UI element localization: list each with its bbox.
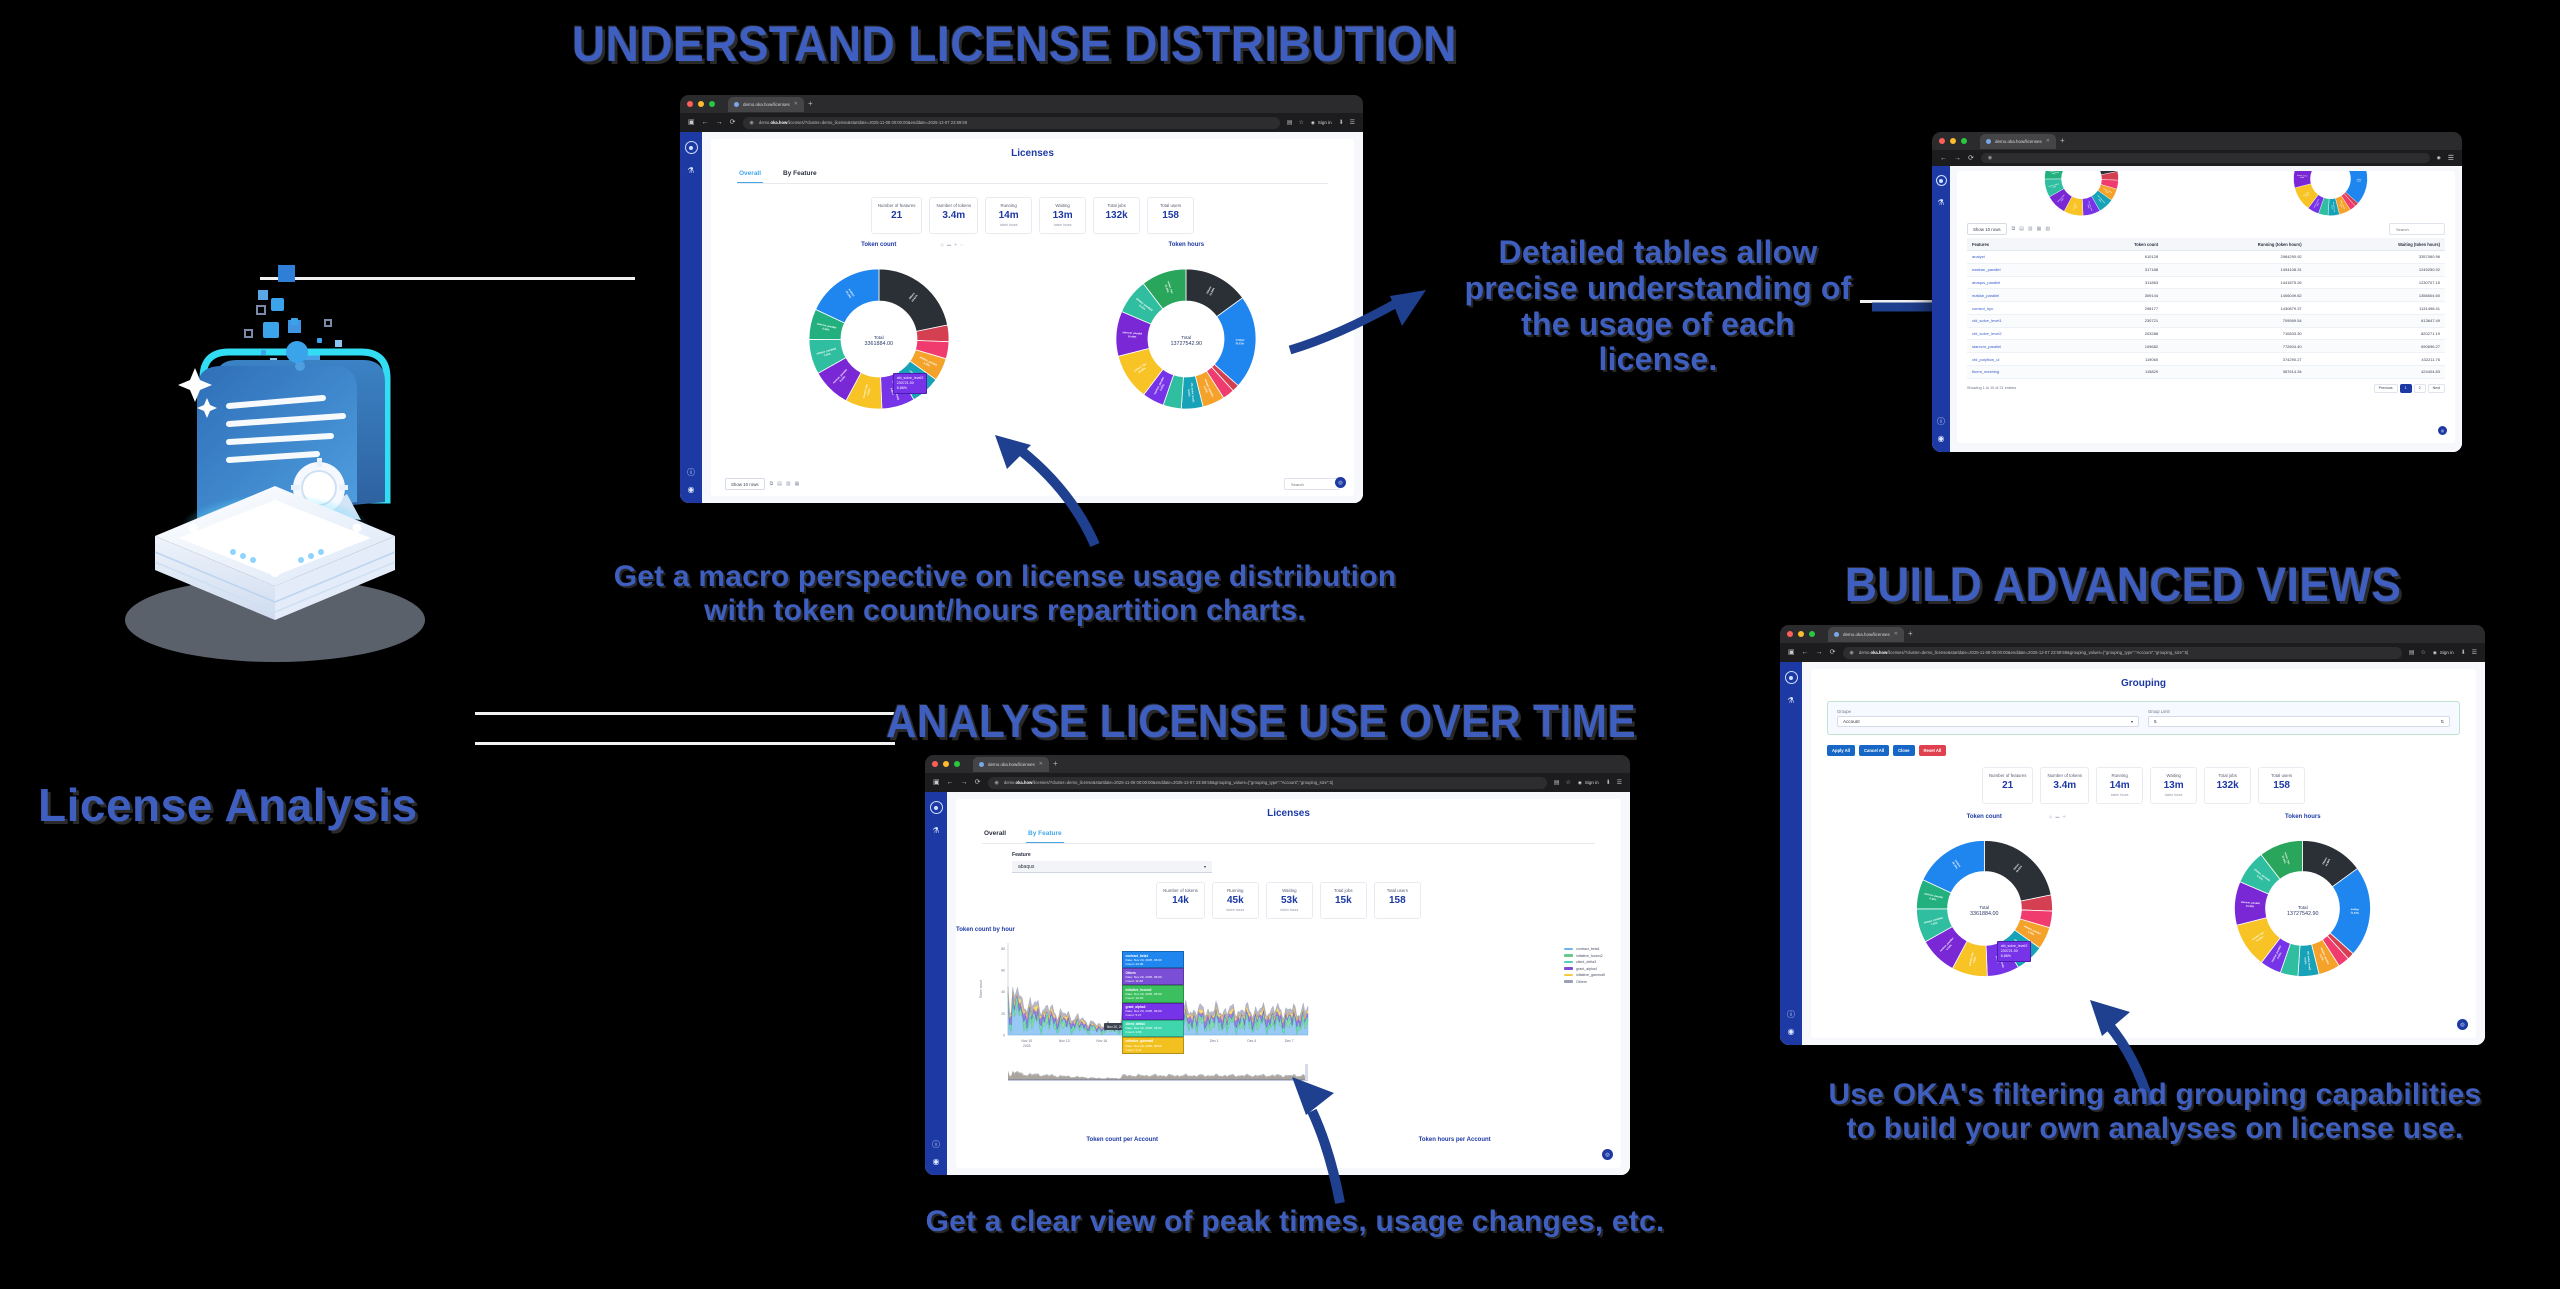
kpi-value: 45k [1219, 895, 1252, 906]
cell-waiting: 432211.76 [2307, 353, 2445, 366]
kpi-sub: token hours [1219, 908, 1252, 913]
sign-in-label: Sign in [1318, 120, 1332, 125]
cell-running: 1494108.31 [2163, 263, 2307, 276]
info-icon[interactable]: ⓘ [932, 1141, 940, 1149]
maximize-window-icon[interactable] [1809, 631, 1815, 637]
account-icon[interactable]: ◉ [688, 486, 695, 494]
info-icon[interactable]: ⓘ [1787, 1011, 1795, 1019]
browser-tab[interactable]: demo.oka.how/licenses ✕ [728, 97, 804, 112]
toolbar-left: Show 10 rows ⧉ ▤ ▥ ▦ [725, 478, 799, 490]
close-tab-icon[interactable]: ✕ [2046, 138, 2050, 144]
cancel-all-button[interactable]: Cancel All [1859, 745, 1889, 756]
donut-charts-row: Token count ◎ ▬ ✛ ⌂ Others19.61%abaqus_p… [711, 238, 1354, 431]
timeseries-svg[interactable]: 020406080Token countNov 102025Nov 13Nov … [974, 937, 1404, 1057]
chart-title: Token hours [2215, 814, 2390, 820]
kpi-label: Waiting [1273, 888, 1306, 893]
subchart-title-hours: Token hours per Account [1419, 1137, 1491, 1143]
address-bar[interactable]: ◉ demo.oka.how/licenses/?cluster=demo_li… [1843, 647, 2402, 659]
group-limit-stepper[interactable]: 5 ⇅ [2148, 716, 2450, 727]
browser-tab[interactable]: demo.oka.how/licenses ✕ [1828, 627, 1904, 642]
maximize-window-icon[interactable] [1961, 138, 1967, 144]
table-header-row: Features Token count Running (token hour… [1967, 238, 2445, 251]
tab-title: demo.oka.how/licenses [988, 762, 1035, 767]
group-select-value: Account [1843, 719, 1860, 724]
site-info-icon[interactable]: ◉ [1850, 650, 1854, 656]
cell-feature[interactable]: analyst [1967, 251, 2072, 264]
info-icon[interactable]: ⓘ [687, 469, 695, 477]
home-icon[interactable]: ⌂ [960, 242, 962, 247]
kpi-sub: token hours [1046, 223, 1079, 228]
close-button[interactable]: Close [1893, 745, 1914, 756]
menu-icon[interactable]: ☰ [1617, 779, 1622, 786]
cell-token-count: 230721 [2072, 314, 2163, 327]
forward-icon[interactable]: → [1954, 155, 1961, 162]
licenses-table: Features Token count Running (token hour… [1967, 238, 2445, 379]
app-logo-icon[interactable] [685, 141, 698, 154]
bookmark-list-icon[interactable]: ▤ [2409, 649, 2415, 656]
donut-token-count: Others19.61%abaqus_parallel4.78%cfd_solv… [789, 251, 969, 431]
kpi-card: Running 14m token hours [2096, 767, 2143, 804]
donut-slice [2045, 171, 2064, 179]
kpi-value: 15k [1327, 895, 1360, 906]
kpi-value: 14m [2103, 780, 2136, 791]
close-window-icon[interactable] [932, 761, 938, 767]
legend-label: initiative_fusion2 [1576, 954, 1603, 958]
browser-tab[interactable]: demo.oka.how/licenses ✕ [1980, 134, 2056, 149]
forward-icon[interactable]: → [1816, 649, 1823, 656]
search-input[interactable] [2389, 223, 2445, 235]
heading-understand-license-distribution: UNDERSTAND LICENSE DISTRIBUTION [572, 15, 1457, 73]
plotly-modebar[interactable]: ◎ ▬ ✛ [2049, 814, 2066, 819]
donut-token-hours: Others14.99%analyst21.61%abaqus_parallel… [2215, 823, 2390, 998]
legend-swatch [1564, 954, 1573, 957]
minimize-window-icon[interactable] [943, 761, 949, 767]
forward-icon[interactable]: → [961, 779, 968, 786]
licenses-nav-icon[interactable]: ⚗ [932, 827, 939, 835]
timeseries-legend: contract_beta1 initiative_fusion2 client… [1564, 947, 1605, 984]
site-info-icon[interactable]: ◉ [995, 780, 999, 786]
legend-swatch [1564, 948, 1573, 951]
cell-token-count: 203288 [2072, 327, 2163, 340]
omnibox-icons-right: ⬇ ☰ [2461, 649, 2477, 656]
sign-in-button[interactable]: ◉ [2437, 155, 2441, 161]
export-icons: ⧉ ▤ ▥ ▦ ▧ [2012, 226, 2051, 232]
maximize-window-icon[interactable] [954, 761, 960, 767]
feature-select[interactable]: abaqus ▾ [1012, 861, 1212, 873]
kpi-sub [1327, 908, 1360, 913]
kpi-sub: token hours [992, 223, 1025, 228]
sidebar-toggle-icon[interactable]: ▣ [1788, 649, 1795, 656]
page-title: Licenses [711, 139, 1354, 165]
help-fab-button[interactable]: ◎ [2438, 426, 2447, 435]
kpi-sub [1154, 223, 1187, 228]
kpi-value: 21 [878, 210, 916, 221]
zoom-icon[interactable]: ▬ [2055, 814, 2059, 819]
omnibox-icons-right: ⬇ ☰ [1339, 119, 1355, 126]
kpi-value: 132k [2211, 780, 2244, 791]
kpi-label: Waiting [2157, 773, 2190, 778]
kpi-card: Number of features 21 [1982, 767, 2034, 804]
kpi-card: Total jobs 132k [1093, 197, 1140, 234]
new-tab-icon[interactable]: + [808, 100, 813, 108]
cell-running: 387614.34 [2163, 366, 2307, 379]
cell-feature[interactable]: comsol_hpc [1967, 302, 2072, 315]
cell-waiting: 3357060.96 [2307, 251, 2445, 264]
cell-running: 1406049.82 [2163, 289, 2307, 302]
kpi-sub: token hours [2157, 793, 2190, 798]
new-tab-icon[interactable]: + [1908, 630, 1913, 638]
forward-icon[interactable]: → [716, 119, 723, 126]
kpi-sub [1989, 793, 2027, 798]
sign-in-button[interactable]: ◉ Sign in [2433, 650, 2454, 656]
copy-icon[interactable]: ⧉ [2012, 226, 2016, 232]
download-icon[interactable]: ⬇ [1339, 119, 1344, 126]
pdf-icon[interactable]: ▦ [2037, 226, 2042, 232]
app-logo-icon[interactable] [930, 801, 943, 814]
timeseries-tooltip: grant_alpha4Date: Nov 20, 2025, 06:00Cou… [1122, 1003, 1184, 1020]
omnibox-icons: ▤ ☆ [2409, 649, 2426, 656]
cell-feature[interactable]: starccm_parallel [1967, 340, 2072, 353]
licenses-table-page: Others19.61%abaqus_parallel4.78%cfd_solv… [1957, 171, 2455, 443]
svg-text:Token count: Token count [979, 980, 983, 998]
browser-window-by-feature: demo.oka.how/licenses ✕ + ▣ ← → ⟳ ◉ demo… [925, 755, 1630, 1175]
page-tabs: Overall By Feature [737, 165, 1328, 184]
app-content: Licenses Overall By Feature Feature abaq… [947, 792, 1630, 1175]
tab-by-feature[interactable]: By Feature [781, 165, 819, 183]
sign-in-label: Sign in [1585, 780, 1599, 785]
legend-item: grant_alpha4 [1564, 967, 1605, 971]
csv-icon[interactable]: ▥ [2028, 226, 2033, 232]
kpi-label: Running [992, 203, 1025, 208]
kpi-card: Waiting 13m token hours [2150, 767, 2197, 804]
omnibox-bar: ← → ⟳ ◉ ◉ ☰ [1932, 150, 2462, 166]
donut-total-value: 13727542.90 [2287, 911, 2318, 917]
help-fab-button[interactable]: ◎ [2457, 1019, 2468, 1030]
account-icon[interactable]: ◉ [1938, 435, 1945, 443]
app-logo-icon[interactable] [1936, 175, 1947, 186]
menu-icon[interactable]: ☰ [2472, 649, 2477, 656]
cell-waiting: 1131498.41 [2307, 302, 2445, 315]
zoom-icon[interactable]: ▬ [947, 242, 951, 247]
new-tab-icon[interactable]: + [2060, 137, 2065, 145]
kpi-card: Number of tokens 3.4m [929, 197, 978, 234]
donut-charts-row: Token count ◎ ▬ ✛ Others19.61%abaqus_par… [1811, 808, 2476, 998]
heading-build-advanced-views: BUILD ADVANCED VIEWS [1845, 558, 2401, 613]
kpi-label: Waiting [1046, 203, 1079, 208]
cell-running: 709569.54 [2163, 314, 2307, 327]
account-icon[interactable]: ◉ [933, 1158, 940, 1166]
kpi-sub [2211, 793, 2244, 798]
reload-icon[interactable]: ⟳ [975, 779, 981, 786]
tab-by-feature[interactable]: By Feature [1026, 825, 1064, 843]
kpi-card: Total jobs 132k [2204, 767, 2251, 804]
kpi-card: Waiting 13m token hours [1039, 197, 1086, 234]
user-icon: ◉ [1578, 780, 1582, 786]
callout-line: to build your own analyses on license us… [1760, 1112, 2550, 1146]
reset-all-button[interactable]: Reset All [1919, 745, 1947, 756]
sign-in-button[interactable]: ◉ Sign in [1578, 780, 1599, 786]
table-row: cfd_solve_level1230721709569.54613647.49 [1967, 314, 2445, 327]
kpi-value: 14k [1163, 895, 1198, 906]
page-1[interactable]: 1 [2400, 384, 2412, 393]
site-info-icon[interactable]: ◉ [1988, 155, 1992, 161]
donut-total-value: 13727542.90 [1171, 341, 1202, 347]
user-icon: ◉ [1311, 120, 1315, 126]
minimize-window-icon[interactable] [1798, 631, 1804, 637]
group-select[interactable]: Account ▾ [1837, 716, 2139, 727]
cell-running: 2984290.92 [2163, 251, 2307, 264]
decor-square-1 [278, 265, 295, 282]
account-icon[interactable]: ◉ [1788, 1028, 1795, 1036]
reload-icon[interactable]: ⟳ [730, 119, 736, 126]
sidebar-rail-bottom: ⓘ ◉ [1787, 1011, 1795, 1045]
donut-tooltip: cfd_solve_level2 230721.00 6.86% [893, 373, 928, 394]
callout-line: Get a clear view of peak times, usage ch… [855, 1205, 1735, 1239]
clipped-donuts-row: Others19.61%abaqus_parallel4.78%cfd_solv… [1957, 171, 2455, 219]
svg-text:0: 0 [1003, 1034, 1005, 1038]
tab-overall[interactable]: Overall [737, 165, 763, 183]
tab-overall[interactable]: Overall [982, 825, 1008, 843]
reload-icon[interactable]: ⟳ [1830, 649, 1836, 656]
close-tab-icon[interactable]: ✕ [794, 101, 798, 107]
star-icon[interactable]: ☆ [1298, 119, 1303, 126]
svg-text:Nov 13: Nov 13 [1059, 1039, 1070, 1043]
callout-line: precise understanding of [1458, 271, 1858, 307]
cell-token-count: 311863 [2072, 276, 2163, 289]
user-icon: ◉ [2437, 155, 2441, 161]
table-row: cfd_solve_level2203288710833.30820271.19 [1967, 327, 2445, 340]
legend-swatch [1564, 961, 1573, 964]
timeseries-tooltip: initiative_gamma5Date: Nov 20, 2025, 06:… [1122, 1037, 1184, 1054]
browser-window-grouping: demo.oka.how/licenses ✕ + ▣ ← → ⟳ ◉ demo… [1780, 625, 2485, 1045]
svg-text:80: 80 [1001, 947, 1005, 951]
page-next[interactable]: Next [2428, 384, 2445, 393]
feature-select-value: abaqus [1018, 864, 1034, 870]
close-tab-icon[interactable]: ✕ [1894, 631, 1898, 637]
cell-token-count: 610128 [2072, 251, 2163, 264]
sidebar-rail-bottom: ⓘ ◉ [932, 1141, 940, 1175]
licenses-nav-icon[interactable]: ⚗ [1937, 199, 1944, 207]
donut-center-label: Total 3361884.00 [1970, 905, 1998, 917]
kpi-label: Total jobs [2211, 773, 2244, 778]
app-content: Grouping Groupe Account ▾ Group Limit [1802, 662, 2485, 1045]
subchart-titles: Token count per Account Token hours per … [956, 1137, 1621, 1146]
cell-waiting: 424404.83 [2307, 366, 2445, 379]
cell-feature[interactable]: nastran_parallel [1967, 263, 2072, 276]
svg-text:60: 60 [1001, 969, 1005, 973]
callout-line: the usage of each license. [1458, 307, 1858, 379]
col-features[interactable]: Features [1967, 238, 2072, 251]
minimize-window-icon[interactable] [1950, 138, 1956, 144]
browser-tab[interactable]: demo.oka.how/licenses ✕ [973, 757, 1049, 772]
close-tab-icon[interactable]: ✕ [1039, 761, 1043, 767]
address-bar[interactable]: ◉ demo.oka.how/licenses/?cluster=demo_li… [743, 117, 1280, 129]
timeseries-tooltip: initiative_fusion2Date: Nov 20, 2025, 06… [1122, 985, 1184, 1002]
menu-icon[interactable]: ☰ [2448, 155, 2454, 162]
help-fab-button[interactable]: ◎ [1602, 1149, 1613, 1160]
print-icon[interactable]: ▧ [2045, 226, 2050, 232]
kpi-label: Total users [2265, 773, 2298, 778]
sidebar-toggle-icon[interactable]: ▣ [688, 119, 695, 126]
app-body: ⚗ ⓘ ◉ Others19.61%abaqus_parallel4.78%cf… [1932, 166, 2462, 452]
svg-text:2025: 2025 [1023, 1044, 1031, 1048]
chart-title: Token hours [1096, 242, 1276, 248]
table-row: comsol_hpc2981771430879.371131498.41 [1967, 302, 2445, 315]
connector-line-left-bottom [475, 712, 895, 715]
star-icon[interactable]: ☆ [2420, 649, 2425, 656]
tooltip-count: Count: 2.41 [1126, 1048, 1142, 1052]
bookmark-list-icon[interactable]: ▤ [1287, 119, 1293, 126]
kpi-card: Total jobs 15k [1320, 882, 1367, 919]
cell-token-count: 119060 [2072, 353, 2163, 366]
table-row: cfd_polyflow_ui119060374290.27432211.76 [1967, 353, 2445, 366]
legend-item: client_delta3 [1564, 960, 1605, 964]
apply-all-button[interactable]: Apply All [1827, 745, 1855, 756]
sidebar-rail-bottom: ⓘ ◉ [1937, 418, 1945, 452]
camera-icon[interactable]: ◎ [940, 242, 944, 247]
cell-feature[interactable]: cfd_solve_level1 [1967, 314, 2072, 327]
donut-slice [879, 269, 948, 331]
donut-total-value: 3361884.00 [865, 341, 893, 347]
grouping-buttons: Apply All Cancel All Close Reset All [1811, 741, 2476, 756]
callout-line: Use OKA's filtering and grouping capabil… [1760, 1078, 2550, 1112]
callout-detailed-tables: Detailed tables allow precise understand… [1458, 235, 1858, 378]
cell-running: 374290.27 [2163, 353, 2307, 366]
download-icon[interactable]: ⬇ [2461, 649, 2466, 656]
excel-icon[interactable]: ▤ [2019, 226, 2024, 232]
sign-in-button[interactable]: ◉ Sign in [1311, 120, 1332, 126]
chart-title: Token count [1897, 814, 2072, 820]
menu-icon[interactable]: ☰ [1350, 119, 1355, 126]
rangeslider-series [1008, 1071, 1308, 1080]
kpi-label: Number of tokens [1163, 888, 1198, 893]
sidebar-rail: ⚗ ⓘ ◉ [680, 132, 702, 503]
back-icon[interactable]: ← [702, 119, 709, 126]
table-row: abaqus_parallel3118631441875.261230707.1… [1967, 276, 2445, 289]
csv-icon[interactable]: ▥ [786, 481, 791, 487]
svg-text:Nov 16: Nov 16 [1096, 1039, 1107, 1043]
group-field: Groupe Account ▾ [1837, 709, 2139, 727]
window-titlebar: demo.oka.how/licenses ✕ + [1780, 625, 2485, 643]
donut-token-hours: Others14.99%analyst21.61%abaqus_parallel… [1096, 251, 1276, 431]
address-bar[interactable]: ◉ [1981, 153, 2430, 163]
legend-item: initiative_fusion2 [1564, 954, 1605, 958]
kpi-label: Number of features [1989, 773, 2027, 778]
sidebar-toggle-icon[interactable]: ▣ [933, 779, 940, 786]
maximize-window-icon[interactable] [709, 101, 715, 107]
close-window-icon[interactable] [1787, 631, 1793, 637]
camera-icon[interactable]: ◎ [2049, 814, 2053, 819]
legend-item: Others [1564, 980, 1605, 984]
cell-waiting: 690696.27 [2307, 340, 2445, 353]
svg-text:Nov 10: Nov 10 [1021, 1039, 1032, 1043]
address-bar-url: demo.oka.how/licenses/?cluster=demo_lice… [759, 120, 967, 125]
token-count-chart: Token count ◎ ▬ ✛ Others19.61%abaqus_par… [1897, 814, 2072, 998]
kpi-value: 13m [2157, 780, 2190, 791]
group-limit-value: 5 [2154, 719, 2157, 724]
help-fab-button[interactable]: ◎ [1335, 477, 1346, 488]
page-2[interactable]: 2 [2414, 384, 2426, 393]
group-limit-label: Group Limit [2148, 709, 2450, 714]
omnibox-icons-right: ⬇ ☰ [1606, 779, 1622, 786]
kpi-value: 53k [1273, 895, 1306, 906]
app-logo-icon[interactable] [1785, 671, 1798, 684]
info-icon[interactable]: ⓘ [1937, 418, 1945, 426]
cell-feature[interactable]: matlab_parallel [1967, 289, 2072, 302]
callout-line: with token count/hours repartition chart… [555, 594, 1455, 628]
stepper-icon[interactable]: ⇅ [2441, 719, 2444, 724]
arrow-overall-to-tables [1290, 290, 1420, 370]
cell-running: 772604.40 [2163, 340, 2307, 353]
back-icon[interactable]: ← [1802, 649, 1809, 656]
back-icon[interactable]: ← [1940, 155, 1947, 162]
minimize-window-icon[interactable] [698, 101, 704, 107]
col-token-count[interactable]: Token count [2072, 238, 2163, 251]
tab-strip: demo.oka.how/licenses ✕ + [1980, 134, 2455, 149]
donut-center-label: Total 13727542.90 [2287, 905, 2318, 917]
address-bar[interactable]: ◉ demo.oka.how/licenses/?cluster=demo_li… [988, 777, 1547, 789]
site-info-icon[interactable]: ◉ [750, 120, 754, 126]
kpi-value: 158 [2265, 780, 2298, 791]
licenses-nav-icon[interactable]: ⚗ [1787, 697, 1794, 705]
page-previous[interactable]: Previous [2374, 384, 2398, 393]
download-icon[interactable]: ⬇ [1606, 779, 1611, 786]
pan-icon[interactable]: ✛ [954, 242, 957, 247]
cell-feature[interactable]: cfd_polyflow_ui [1967, 353, 2072, 366]
svg-text:Dec 7: Dec 7 [1285, 1039, 1294, 1043]
cell-feature[interactable]: fluent_meshing [1967, 366, 2072, 379]
cell-feature[interactable]: cfd_solve_level2 [1967, 327, 2072, 340]
window-titlebar: demo.oka.how/licenses ✕ + [925, 755, 1630, 773]
table-row: analyst6101282984290.923357060.96 [1967, 251, 2445, 264]
donut-total-label: Total [2287, 905, 2318, 910]
pan-icon[interactable]: ✛ [2062, 814, 2065, 819]
search-input[interactable] [1284, 478, 1340, 490]
cell-waiting: 1230707.15 [2307, 276, 2445, 289]
kpi-sub: token hours [1273, 908, 1306, 913]
kpi-value: 132k [1100, 210, 1133, 221]
donut-tooltip: cfd_solve_level2 230721.00 6.86% [1997, 941, 2032, 962]
cell-token-count: 309144 [2072, 289, 2163, 302]
tooltip-percent: 6.86% [2001, 954, 2028, 959]
pdf-icon[interactable]: ▦ [795, 481, 800, 487]
new-tab-icon[interactable]: + [1053, 760, 1058, 768]
reload-icon[interactable]: ⟳ [1968, 155, 1974, 162]
svg-text:Dec 1: Dec 1 [1210, 1039, 1219, 1043]
plotly-modebar[interactable]: ◎ ▬ ✛ ⌂ [940, 242, 962, 247]
copy-icon[interactable]: ⧉ [770, 481, 774, 487]
group-label: Groupe [1837, 709, 2139, 714]
excel-icon[interactable]: ▤ [777, 481, 782, 487]
kpi-label: Total users [1381, 888, 1414, 893]
col-waiting[interactable]: Waiting (token hours) [2307, 238, 2445, 251]
show-rows-button[interactable]: Show 10 rows [1967, 223, 2007, 235]
licenses-nav-icon[interactable]: ⚗ [687, 167, 694, 175]
bookmark-list-icon[interactable]: ▤ [1554, 779, 1560, 786]
col-running[interactable]: Running (token hours) [2163, 238, 2307, 251]
donut-total-label: Total [1970, 905, 1998, 910]
table-row: starccm_parallel109682772604.40690696.27 [1967, 340, 2445, 353]
page-tabs: Overall By Feature [982, 825, 1595, 844]
close-window-icon[interactable] [1939, 138, 1945, 144]
cell-feature[interactable]: abaqus_parallel [1967, 276, 2072, 289]
star-icon[interactable]: ☆ [1565, 779, 1570, 786]
close-window-icon[interactable] [687, 101, 693, 107]
omnibox-bar: ▣ ← → ⟳ ◉ demo.oka.how/licenses/?cluster… [925, 773, 1630, 792]
show-rows-button[interactable]: Show 10 rows [725, 478, 765, 490]
kpi-sub [936, 223, 971, 228]
back-icon[interactable]: ← [947, 779, 954, 786]
